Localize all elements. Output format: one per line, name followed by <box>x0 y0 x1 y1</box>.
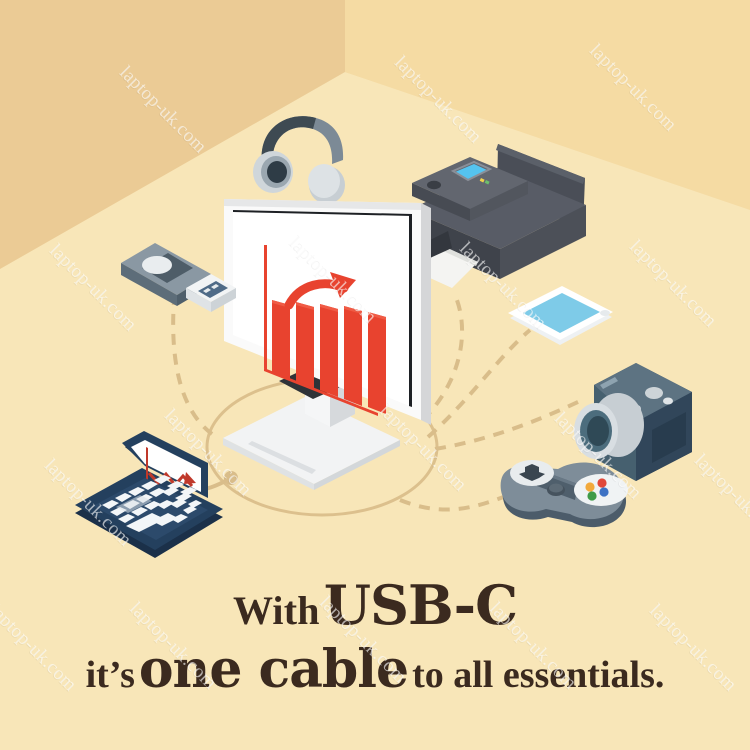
infographic-canvas: With USB-C it’s one cable to all essenti… <box>0 0 750 750</box>
headphones-cup-left-driver <box>267 161 287 183</box>
gamepad-button-red[interactable] <box>597 478 606 487</box>
camera-shutter-button[interactable] <box>645 387 663 399</box>
chart-bar <box>296 302 314 388</box>
chart-bar <box>320 304 338 397</box>
device-gamepad[interactable] <box>501 460 628 527</box>
headline-line1-emphasis: USB-C <box>324 573 517 637</box>
monitor-bezel-side <box>421 203 431 425</box>
headline-line2-prefix: it’s <box>86 654 135 696</box>
headline-line2-emphasis: one cable <box>139 639 408 700</box>
gamepad-button-yellow[interactable] <box>585 482 594 491</box>
monitor-screen-edge-right <box>409 214 412 407</box>
tablet-home-button[interactable] <box>600 310 610 316</box>
printer-power-button[interactable] <box>427 181 441 189</box>
chart-bar <box>368 312 386 414</box>
headline-line2-suffix: to all essentials. <box>412 654 664 696</box>
chart-bar <box>344 306 362 406</box>
gamepad-button-blue[interactable] <box>599 487 608 496</box>
headline-line-2: it’s one cable to all essentials. <box>0 644 750 696</box>
usb-slider-thumb[interactable] <box>142 256 172 274</box>
headphones-cup-right-face <box>308 164 340 198</box>
camera-lens-aperture <box>587 416 609 446</box>
headline-line-1: With USB-C <box>0 578 750 632</box>
chart-axis-line <box>264 245 267 370</box>
headline-line1-prefix: With <box>233 588 320 633</box>
headline-block: With USB-C it’s one cable to all essenti… <box>0 578 750 696</box>
chart-bar <box>272 300 290 379</box>
gamepad-analog-stick-top <box>549 484 563 493</box>
gamepad-button-green[interactable] <box>587 491 596 500</box>
camera-dial[interactable] <box>663 398 673 405</box>
